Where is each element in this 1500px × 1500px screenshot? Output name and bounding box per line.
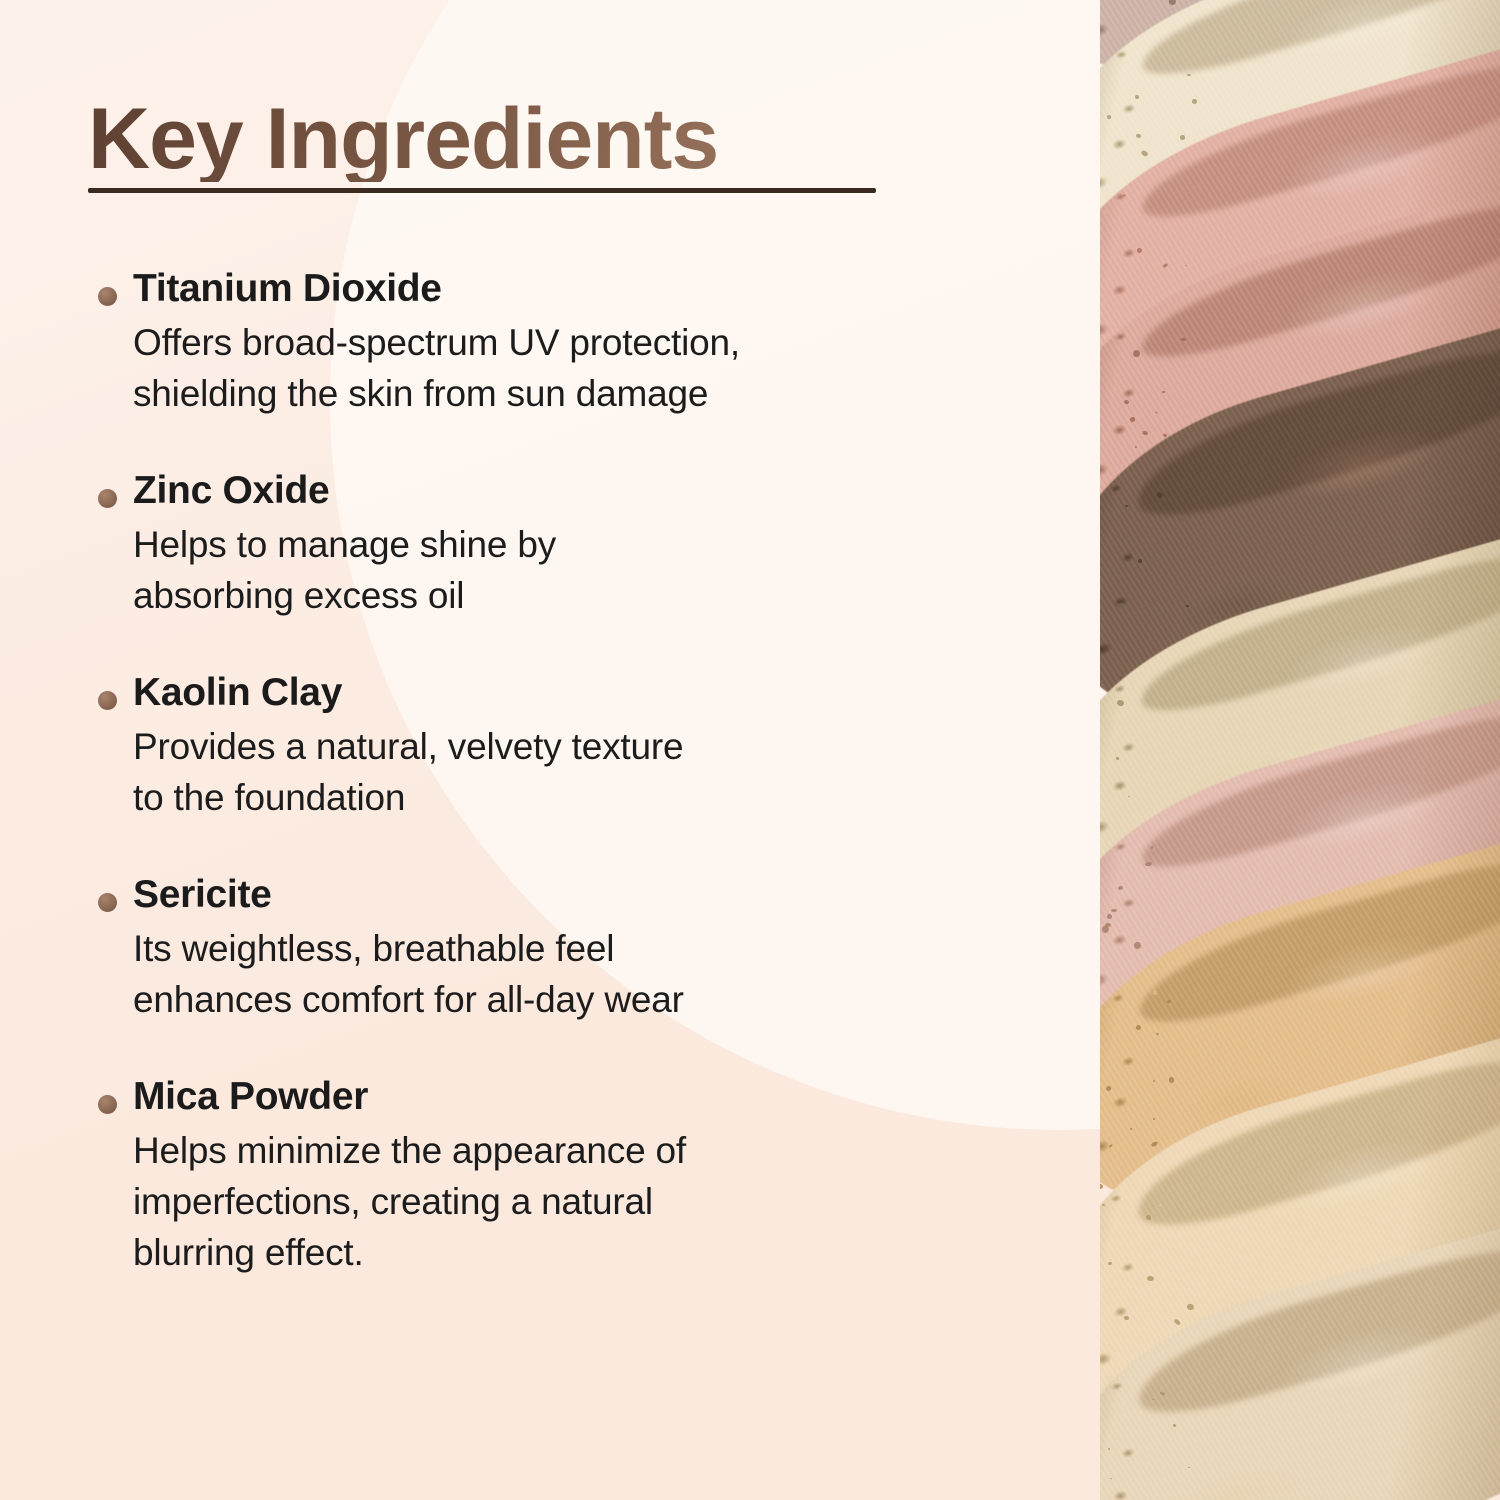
ingredient-description: Helps to manage shine by absorbing exces… bbox=[133, 519, 953, 621]
powder-speck bbox=[1187, 74, 1191, 76]
ingredient-item: Zinc OxideHelps to manage shine by absor… bbox=[88, 469, 988, 621]
powder-speck bbox=[1186, 605, 1189, 607]
ingredient-description: Provides a natural, velvety texture to t… bbox=[133, 721, 953, 823]
bullet-dot-icon bbox=[98, 489, 117, 508]
ingredient-name: Sericite bbox=[133, 873, 988, 918]
bullet-dot-icon bbox=[98, 893, 117, 912]
content-column: Key Ingredients Titanium DioxideOffers b… bbox=[88, 96, 988, 1278]
page-title-wrap: Key Ingredients bbox=[88, 96, 878, 193]
bullet-dot-icon bbox=[98, 287, 117, 306]
powder-speck bbox=[1183, 403, 1188, 409]
bullet-dot-icon bbox=[98, 691, 117, 710]
powder-speck bbox=[1124, 1316, 1129, 1320]
ingredient-item: Kaolin ClayProvides a natural, velvety t… bbox=[88, 671, 988, 823]
ingredient-description: Its weightless, breathable feel enhances… bbox=[133, 923, 953, 1025]
powder-speck bbox=[1145, 1214, 1150, 1219]
ingredient-name: Titanium Dioxide bbox=[133, 267, 988, 312]
ingredient-item: Mica PowderHelps minimize the appearance… bbox=[88, 1075, 988, 1278]
ingredient-item: SericiteIts weightless, breathable feel … bbox=[88, 873, 988, 1025]
ingredient-name: Kaolin Clay bbox=[133, 671, 988, 716]
powder-speck bbox=[1168, 1077, 1174, 1083]
ingredient-item: Titanium DioxideOffers broad-spectrum UV… bbox=[88, 267, 988, 419]
ingredient-list: Titanium DioxideOffers broad-spectrum UV… bbox=[88, 267, 988, 1278]
powder-swatch-image bbox=[1100, 0, 1500, 1500]
powder-speck bbox=[1154, 881, 1160, 887]
ingredient-name: Zinc Oxide bbox=[133, 469, 988, 514]
powder-speck bbox=[1128, 507, 1134, 511]
powder-speck bbox=[1107, 914, 1112, 919]
bullet-dot-icon bbox=[98, 1095, 117, 1114]
title-underline bbox=[88, 188, 876, 193]
infographic-page: Key Ingredients Titanium DioxideOffers b… bbox=[0, 0, 1500, 1500]
powder-speck bbox=[1180, 516, 1186, 522]
powder-speck bbox=[1106, 114, 1111, 119]
powder-speck bbox=[1111, 909, 1117, 912]
page-title: Key Ingredients bbox=[88, 96, 878, 182]
ingredient-description: Offers broad-spectrum UV protection, shi… bbox=[133, 317, 953, 419]
powder-speck bbox=[1100, 1387, 1105, 1393]
ingredient-description: Helps minimize the appearance of imperfe… bbox=[133, 1125, 953, 1278]
ingredient-name: Mica Powder bbox=[133, 1075, 988, 1120]
powder-speck bbox=[1172, 108, 1174, 110]
powder-speck bbox=[1128, 89, 1136, 95]
powder-speck bbox=[1108, 1261, 1112, 1264]
powder-bands-container bbox=[1100, 0, 1500, 1500]
